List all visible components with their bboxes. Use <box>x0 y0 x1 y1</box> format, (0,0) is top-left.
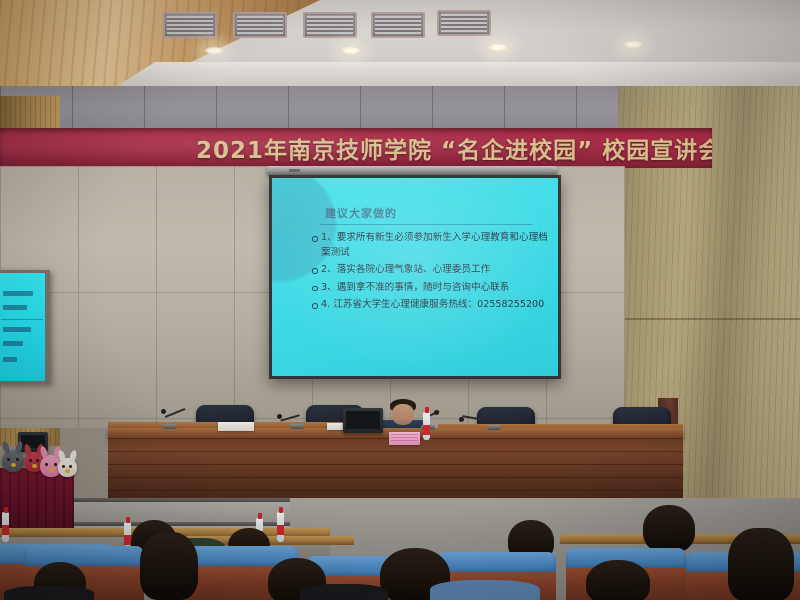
water-bottle <box>277 512 284 542</box>
plush-eye <box>16 458 19 461</box>
projector-screen-housing <box>267 166 557 175</box>
audience-head <box>586 560 650 600</box>
bottle-label <box>423 425 430 435</box>
audience-head <box>140 532 198 600</box>
list-item: 1、要求所有新生必须参加新生入学心理教育和心理档案测试 <box>312 231 548 260</box>
slide-divider <box>320 224 532 225</box>
plush-eye <box>29 459 32 462</box>
audience-shoulders <box>4 586 94 600</box>
side-monitor-screen <box>0 273 45 381</box>
screen-roller-knob <box>289 169 300 172</box>
microphone-head <box>434 410 439 415</box>
stage-step-edge <box>60 498 290 502</box>
table-papers <box>218 422 254 431</box>
bullet-icon <box>312 303 318 309</box>
audience-shoulders <box>430 580 540 600</box>
list-item-text: 2、落实各院心理气象站、心理委员工作 <box>321 264 490 275</box>
plush-toy-gray <box>2 450 24 472</box>
audience-head <box>643 505 695 553</box>
water-bottle <box>2 512 9 542</box>
hvac-vent <box>303 12 357 38</box>
ceiling-downlight <box>203 46 225 55</box>
microphone-base <box>487 425 501 430</box>
hvac-vent <box>163 12 217 38</box>
plush-eye <box>7 458 10 461</box>
microphone-head <box>277 414 282 419</box>
list-item-text: 4. 江苏省大学生心理健康服务热线：02558255200 <box>321 299 544 310</box>
bullet-icon <box>312 286 318 292</box>
bottle-label <box>277 525 284 535</box>
seat-back <box>436 552 556 574</box>
plush-toy-white <box>58 458 77 477</box>
list-item: 4. 江苏省大学生心理健康服务热线：02558255200 <box>312 298 548 313</box>
plush-nose <box>11 463 16 467</box>
hvac-vent <box>233 12 287 38</box>
bullet-icon <box>312 268 318 274</box>
plush-eye <box>36 459 39 462</box>
plush-ear <box>57 449 66 463</box>
slide-bullet-list: 1、要求所有新生必须参加新生入学心理教育和心理档案测试 2、落实各院心理气象站、… <box>312 231 548 316</box>
hvac-vent <box>371 12 425 38</box>
bottle-label <box>124 535 131 545</box>
ceiling-downlight <box>487 43 509 52</box>
wood-wall-seam <box>618 318 800 320</box>
plush-nose <box>65 469 70 473</box>
slide-surface: 建议大家做的 1、要求所有新生必须参加新生入学心理教育和心理档案测试 2、落实各… <box>272 178 558 376</box>
microphone-head <box>459 417 464 422</box>
slide-title: 建议大家做的 <box>325 205 397 221</box>
plush-eye <box>54 463 57 466</box>
plush-eye <box>62 465 65 468</box>
event-banner: 2021年南京技师学院 “名企进校园” 校园宣讲会 <box>0 128 712 168</box>
lecture-hall-photo: 2021年南京技师学院 “名企进校园” 校园宣讲会 建议大家做的 1、要求所有新… <box>0 0 800 600</box>
ceiling-downlight <box>340 46 362 55</box>
plush-eye <box>45 463 48 466</box>
projection-screen: 建议大家做的 1、要求所有新生必须参加新生入学心理教育和心理档案测试 2、落实各… <box>269 175 561 379</box>
plush-nose <box>32 464 37 468</box>
list-item: 3、遇到拿不准的事情，随时与咨询中心联系 <box>312 281 548 296</box>
table-front-panel <box>108 438 683 500</box>
list-item-text: 1、要求所有新生必须参加新生入学心理教育和心理档案测试 <box>321 232 548 258</box>
seat-back <box>24 546 144 568</box>
list-item: 2、落实各院心理气象站、心理委员工作 <box>312 263 548 278</box>
laptop <box>343 408 383 433</box>
hvac-vent <box>437 10 491 36</box>
microphone-base <box>290 424 304 429</box>
ceiling-downlight <box>622 40 644 49</box>
microphone-base <box>163 424 177 429</box>
presenter-face <box>392 404 414 425</box>
water-bottle <box>423 412 430 440</box>
plush-ear <box>68 449 77 463</box>
plush-nose <box>49 468 54 472</box>
microphone-head <box>161 409 166 414</box>
presenter-document <box>389 432 420 445</box>
audience-head <box>728 528 794 600</box>
bottle-label <box>2 525 9 535</box>
banner-text: 2021年南京技师学院 “名企进校园” 校园宣讲会 <box>196 131 712 165</box>
audience-shoulders <box>300 584 388 600</box>
plush-eye <box>69 465 72 468</box>
water-bottle <box>124 522 131 546</box>
list-item-text: 3、遇到拿不准的事情，随时与咨询中心联系 <box>321 282 509 293</box>
side-monitor <box>0 270 50 384</box>
bullet-icon <box>312 236 318 242</box>
